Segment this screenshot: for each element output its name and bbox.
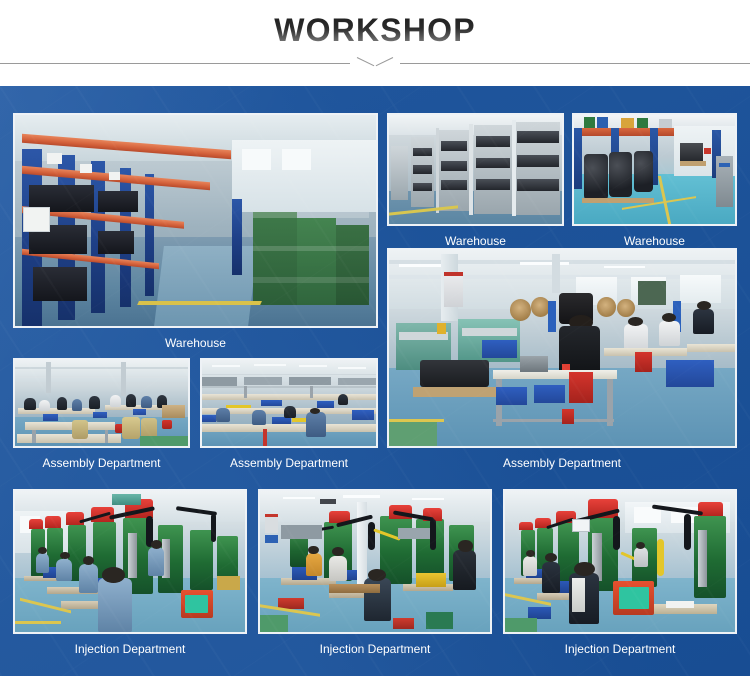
divider-rule-right [400,63,750,64]
caption-warehouse-large: Warehouse [13,335,378,351]
photo-injection-center[interactable] [258,489,492,634]
photo-assembly-lines[interactable] [200,358,378,448]
caption-injection-middle: Injection Department [258,641,492,657]
gallery-board: Warehouse [0,86,750,676]
workshop-page: WORKSHOP [0,0,750,700]
caption-injection-left: Injection Department [13,641,247,657]
photo-assembly-hall[interactable] [387,248,737,448]
caption-assembly-large: Assembly Department [387,455,737,471]
divider-rule-left [0,63,350,64]
photo-warehouse-shelves[interactable] [387,113,564,226]
caption-warehouse-pallets: Warehouse [572,233,737,249]
chevron-down-icon [358,55,392,71]
photo-assembly-benches[interactable] [13,358,190,448]
caption-assembly-middle: Assembly Department [200,455,378,471]
photo-injection-row[interactable] [13,489,247,634]
page-title: WORKSHOP [0,10,750,50]
header-divider [0,52,750,74]
caption-injection-right: Injection Department [503,641,737,657]
photo-warehouse-racking[interactable] [13,113,378,328]
page-header: WORKSHOP [0,0,750,86]
photo-injection-right[interactable] [503,489,737,634]
caption-warehouse-shelves: Warehouse [387,233,564,249]
photo-warehouse-pallets[interactable] [572,113,737,226]
caption-assembly-left: Assembly Department [13,455,190,471]
